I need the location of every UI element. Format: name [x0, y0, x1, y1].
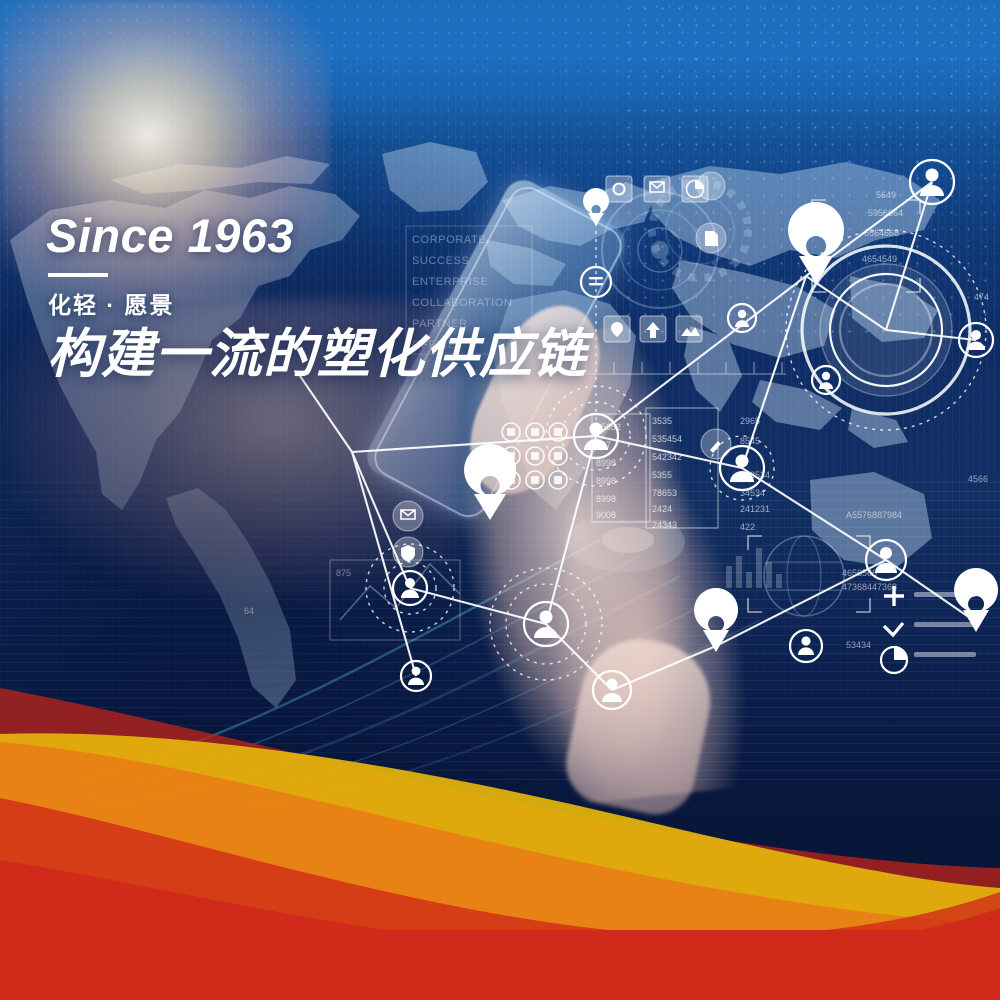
svg-text:64: 64: [244, 606, 254, 616]
svg-text:53434: 53434: [846, 640, 871, 650]
eyebrow-text: Since 1963: [46, 212, 587, 259]
svg-text:8545: 8545: [740, 436, 760, 446]
promo-banner: 45652 567 8998 8998 8998 9008 3535 53545…: [0, 0, 1000, 1000]
svg-text:78653: 78653: [652, 488, 677, 498]
svg-text:8998: 8998: [596, 494, 616, 504]
svg-text:45652: 45652: [596, 422, 621, 432]
svg-text:2965: 2965: [740, 416, 760, 426]
svg-text:5956664: 5956664: [868, 208, 903, 218]
svg-text:8998: 8998: [596, 476, 616, 486]
headline-text-block: Since 1963 化轻 · 愿景 构建一流的塑化供应链: [46, 212, 587, 384]
svg-text:24343: 24343: [652, 520, 677, 530]
svg-text:5649: 5649: [876, 190, 896, 200]
svg-text:4656566: 4656566: [842, 568, 877, 578]
svg-text:875: 875: [336, 568, 351, 578]
svg-text:241231: 241231: [740, 504, 770, 514]
svg-text:47368447368: 47368447368: [842, 582, 897, 592]
svg-text:542342: 542342: [652, 452, 682, 462]
data-panel-center: 3535 535454 542342 5355 78653 2424 24343: [646, 408, 718, 530]
svg-text:474: 474: [974, 292, 989, 302]
data-panel-right: 2965 8545 363534 34534 241231 422: [740, 416, 770, 532]
svg-text:3535: 3535: [652, 416, 672, 426]
svg-text:535454: 535454: [652, 434, 682, 444]
svg-text:422: 422: [740, 522, 755, 532]
svg-text:34534: 34534: [740, 488, 765, 498]
svg-text:4566: 4566: [968, 474, 988, 484]
svg-text:363534: 363534: [740, 470, 770, 480]
svg-text:2424: 2424: [652, 504, 672, 514]
svg-text:4654549: 4654549: [862, 254, 897, 264]
phone-keypad-icons: [502, 423, 567, 489]
svg-text:5355: 5355: [652, 470, 672, 480]
svg-text:8998: 8998: [596, 458, 616, 468]
divider-rule: [48, 273, 108, 277]
hud-icon-row-top: [606, 176, 708, 202]
svg-text:567: 567: [596, 440, 611, 450]
hud-icon-row-mid: [604, 316, 702, 342]
svg-text:9008: 9008: [596, 510, 616, 520]
lens-circle-graphic: [802, 246, 970, 414]
svg-text:A5576887984: A5576887984: [846, 510, 902, 520]
subtitle-text: 化轻 · 愿景: [48, 286, 587, 320]
bottom-wave-decoration: [0, 670, 1000, 1000]
page-title: 构建一流的塑化供应链: [47, 326, 587, 384]
data-panel-left: 45652 567 8998 8998 8998 9008: [592, 414, 650, 522]
